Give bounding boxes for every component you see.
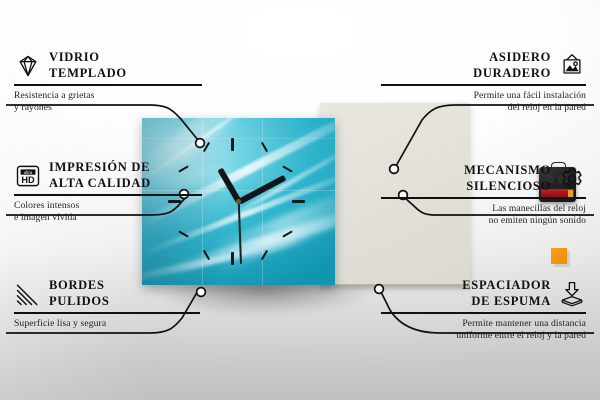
polished-edge-icon: [14, 280, 42, 308]
feature-header: VIDRIOTEMPLADO: [14, 50, 219, 81]
feature-rule: [381, 84, 586, 86]
feature-header: BORDESPULIDOS: [14, 278, 219, 309]
clock-tick-3: [292, 200, 305, 203]
clock-tick-12: [231, 138, 234, 151]
feature-rule: [14, 84, 202, 86]
feature-description: Permite una fácil instalacióndel reloj e…: [381, 90, 586, 115]
feature-header: ultra HD IMPRESIÓN DEALTA CALIDAD: [14, 160, 219, 191]
press-down-pad-icon: [558, 280, 586, 308]
feature-mecanismo-silencioso: MECANISMOSILENCIOSO Las manecillas del r…: [381, 163, 586, 228]
ultra-hd-icon: ultra HD: [14, 162, 42, 190]
feature-rule: [14, 194, 202, 196]
feature-description: Permite mantener una distanciauniforme e…: [381, 318, 586, 343]
feature-espaciador-de-espuma: ESPACIADORDE ESPUMA Permite mantener una…: [381, 278, 586, 343]
clock-tick-6: [231, 252, 234, 265]
feature-title: ASIDERODURADERO: [473, 50, 551, 81]
foam-spacer: [551, 248, 567, 264]
clock-center-cap: [236, 199, 241, 204]
feature-header: ESPACIADORDE ESPUMA: [381, 278, 586, 309]
feature-header: MECANISMOSILENCIOSO: [381, 163, 586, 194]
feature-rule: [381, 312, 586, 314]
feature-description: Colores intensose imagen vívida: [14, 200, 219, 225]
infographic-canvas: VIDRIOTEMPLADO Resistencia a grietasy ra…: [0, 0, 600, 400]
feature-title: IMPRESIÓN DEALTA CALIDAD: [49, 160, 151, 191]
gear-icon: [558, 165, 586, 193]
feature-bordes-pulidos: BORDESPULIDOS Superficie lisa y segura: [14, 278, 219, 330]
feature-vidrio-templado: VIDRIOTEMPLADO Resistencia a grietasy ra…: [14, 50, 219, 115]
svg-text:HD: HD: [21, 175, 35, 185]
feature-description: Superficie lisa y segura: [14, 318, 219, 330]
feature-header: ASIDERODURADERO: [381, 50, 586, 81]
feature-title: MECANISMOSILENCIOSO: [464, 163, 551, 194]
feature-rule: [381, 197, 586, 199]
feature-title: VIDRIOTEMPLADO: [49, 50, 127, 81]
hanging-frame-icon: [558, 52, 586, 80]
feature-rule: [14, 312, 200, 314]
diamond-icon: [14, 52, 42, 80]
feature-description: Resistencia a grietasy rayones: [14, 90, 219, 115]
feature-title: BORDESPULIDOS: [49, 278, 109, 309]
feature-asidero-duradero: ASIDERODURADERO Permite una fácil instal…: [381, 50, 586, 115]
feature-impresion-alta-calidad: ultra HD IMPRESIÓN DEALTA CALIDAD Colore…: [14, 160, 219, 225]
feature-description: Las manecillas del relojno emiten ningún…: [381, 203, 586, 228]
feature-title: ESPACIADORDE ESPUMA: [462, 278, 551, 309]
